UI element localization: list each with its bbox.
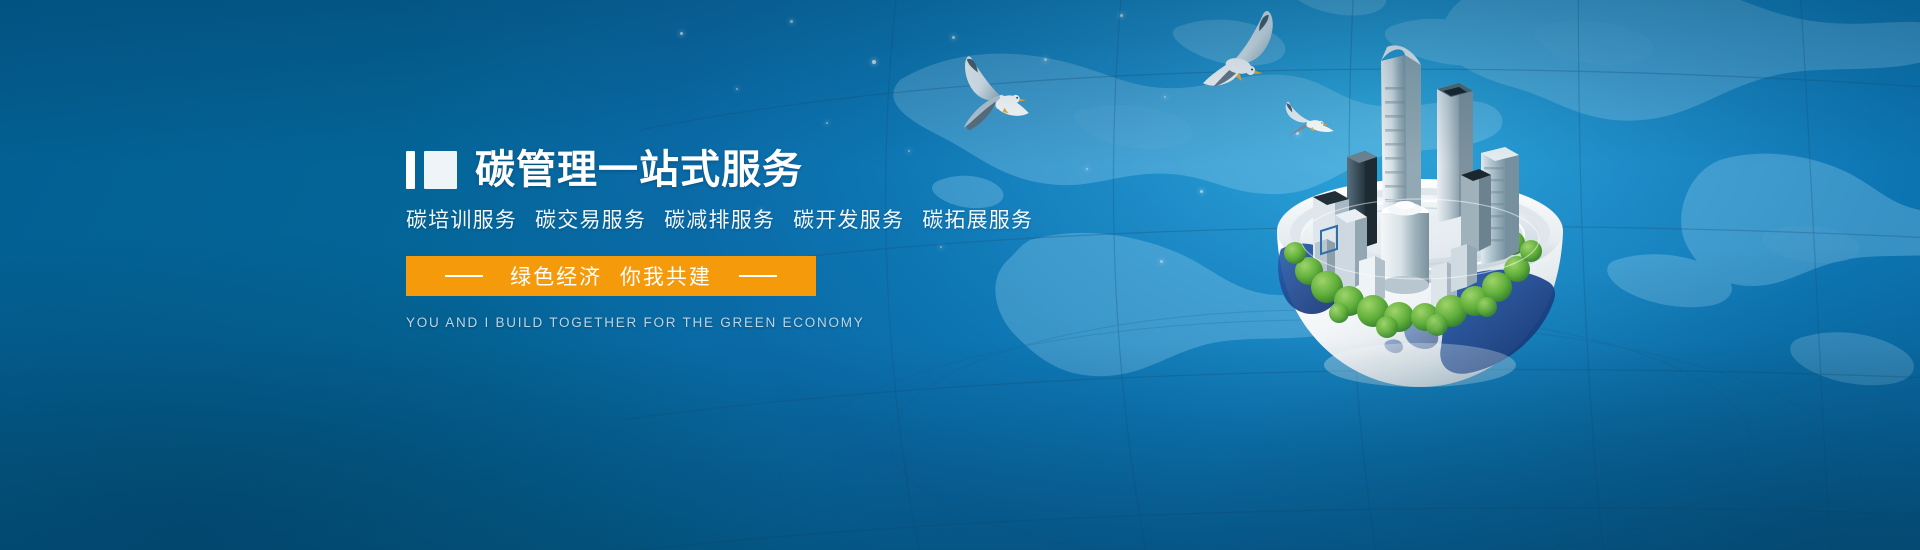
service-item-1[interactable]: 碳培训服务 [406,209,517,232]
service-item-4[interactable]: 碳开发服务 [793,209,904,232]
slogan-rule-right [739,275,777,277]
page-title: 碳管理一站式服务 [475,150,803,190]
carbon-management-banner: 碳管理一站式服务 碳培训服务 碳交易服务 碳减排服务 碳开发服务 碳拓展服务 绿… [0,0,1920,550]
logo-bar-icon [406,151,415,189]
slogan-text: 绿色经济 你我共建 [505,261,717,291]
service-item-3[interactable]: 碳减排服务 [664,209,775,232]
logo-square-icon [424,151,457,189]
slogan-banner: 绿色经济 你我共建 [406,256,816,296]
service-item-5[interactable]: 碳拓展服务 [922,209,1033,232]
service-list: 碳培训服务 碳交易服务 碳减排服务 碳开发服务 碳拓展服务 [406,204,1026,234]
slogan-part-one: 绿色经济 [510,266,602,289]
brand-logo-mark [406,151,457,189]
title-row: 碳管理一站式服务 [406,148,1026,192]
banner-copy-block: 碳管理一站式服务 碳培训服务 碳交易服务 碳减排服务 碳开发服务 碳拓展服务 绿… [406,148,1026,330]
slogan-rule-left [445,275,483,277]
service-item-2[interactable]: 碳交易服务 [535,209,646,232]
english-tagline: YOU AND I BUILD TOGETHER FOR THE GREEN E… [406,315,816,330]
slogan-part-two: 你我共建 [620,266,712,289]
